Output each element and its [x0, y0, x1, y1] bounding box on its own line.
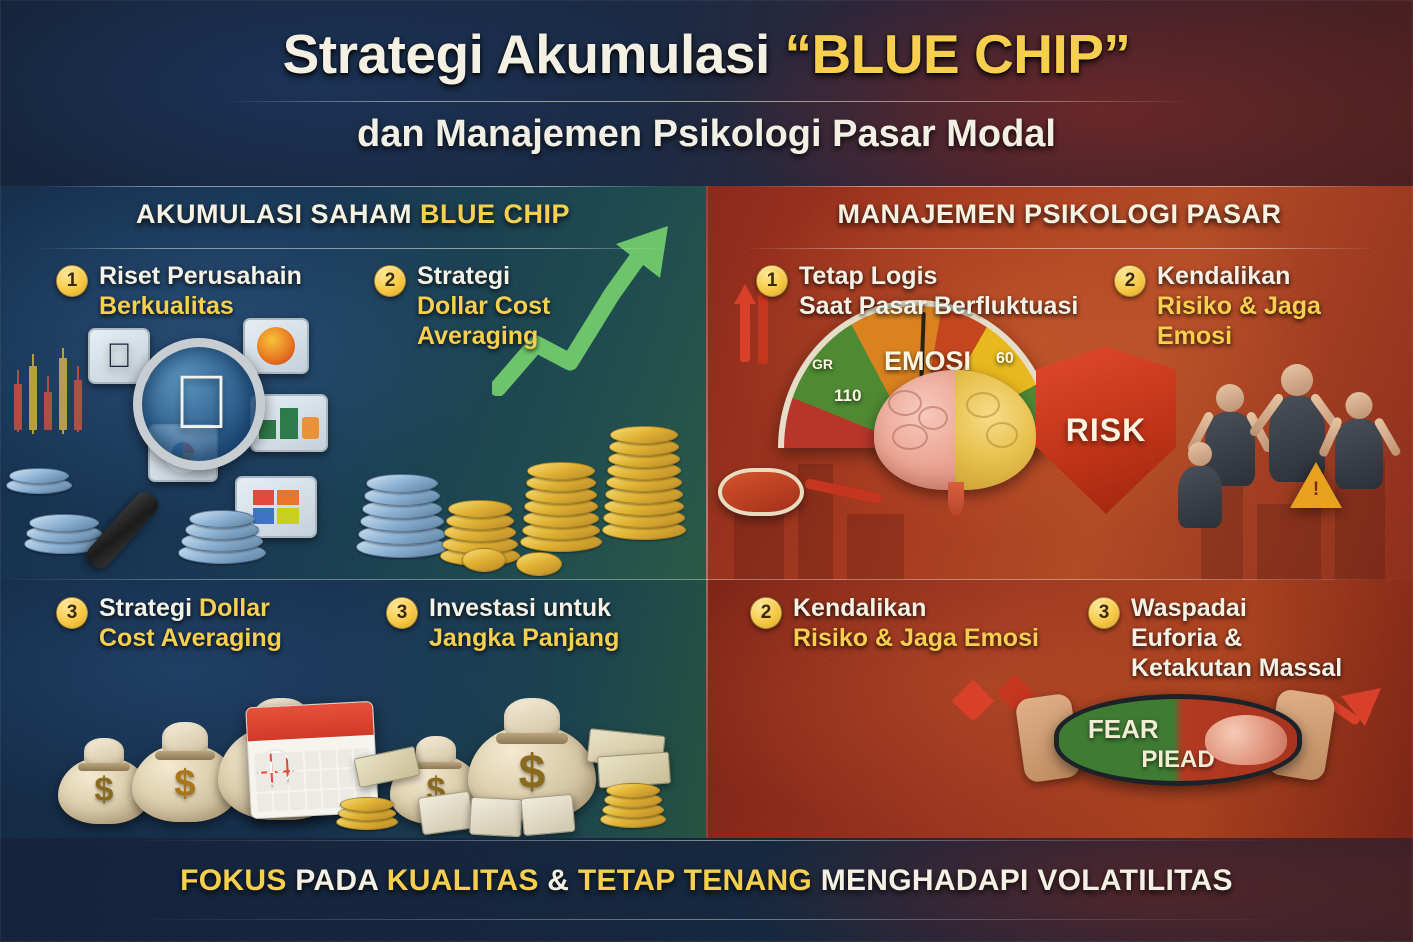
item-line: Dollar Cost [417, 292, 550, 322]
footer-segment: TETAP TENANG [578, 864, 821, 897]
section-title-left: AKUMULASI SAHAM BLUE CHIP [0, 199, 706, 230]
list-item-right-4[interactable]: 3 Waspadai Euforia & Ketakutan Massal [1088, 594, 1342, 683]
item-text: Investasi untuk Jangka Panjang [429, 594, 619, 654]
loose-coin-2 [516, 552, 562, 576]
gauge-tick-label: 110 [834, 386, 861, 406]
quadrant-psychology-top: EMOSI GR 110 60 RISK [706, 186, 1413, 580]
list-item-left-2[interactable]: 2 Strategi Dollar Cost Averaging [374, 262, 550, 351]
quadrant-accumulation-bottom: $ $ $ 10 [0, 580, 706, 838]
item-line: Tetap Logis [799, 262, 1078, 292]
coin-stack-center [178, 494, 270, 564]
section-rule-bottom-right [742, 248, 1377, 249]
footer-rule-top [120, 840, 1293, 841]
item-line: Averaging [417, 322, 550, 352]
footer-segment: PADA [295, 864, 387, 897]
item-number-badge: 2 [750, 597, 782, 629]
item-line: Risiko & Jaga [1157, 292, 1321, 322]
footer-rule-bottom [120, 919, 1293, 920]
gauge-tick-label: 60 [996, 350, 1014, 368]
section-title-right: MANAJEMEN PSIKOLOGI PASAR [706, 199, 1413, 230]
horizontal-divider [0, 579, 1413, 580]
loose-coin-1 [462, 548, 506, 572]
item-text: Kendalikan Risiko & Jaga Emosi [1157, 262, 1321, 351]
brain-illustration [874, 370, 1036, 490]
item-line: Jangka Panjang [429, 624, 619, 654]
badge-brain-icon [1205, 715, 1287, 765]
fear-greed-badge: FEAR PIEAD [1054, 694, 1302, 786]
poster-header: Strategi Akumulasi “BLUE CHIP” dan Manaj… [0, 0, 1413, 186]
playing-card-3 [520, 794, 575, 836]
brain-stem [948, 482, 964, 516]
money-bag-symbol: $ [468, 745, 596, 800]
item-line: Waspadai [1131, 594, 1342, 624]
item-line: Berkualitas [99, 292, 302, 322]
item-line: Investasi untuk [429, 594, 619, 624]
title-divider [222, 101, 1192, 102]
item-line: Strategi [417, 262, 550, 292]
coin-stack-bottom-1 [336, 766, 402, 830]
title-highlight-part: “BLUE CHIP” [785, 23, 1131, 85]
item-text: Kendalikan Risiko & Jaga Emosi [793, 594, 1039, 654]
item-number-badge: 3 [386, 597, 418, 629]
item-text: Waspadai Euforia & Ketakutan Massal [1131, 594, 1342, 683]
apple-logo-magnified-icon:  [173, 365, 230, 441]
list-item-left-4[interactable]: 3 Investasi untuk Jangka Panjang [386, 594, 619, 654]
fear-label: FEAR [1069, 714, 1178, 745]
magnifier-lens:  [133, 338, 265, 470]
coin-stack-dca-3 [520, 402, 606, 552]
gauge-tick-label: GR [812, 356, 833, 372]
item-line: Kendalikan [1157, 262, 1321, 292]
section-rule-bottom-left [36, 248, 670, 249]
small-dial-decor [718, 468, 804, 516]
footer-segment: KUALITAS [387, 864, 547, 897]
footer-segment: MENGHADAPI VOLATILITAS [821, 864, 1233, 897]
list-item-left-1[interactable]: 1 Riset Perusahain Berkualitas [56, 262, 302, 322]
item-text: Tetap Logis Saat Pasar Berfluktuasi [799, 262, 1078, 322]
section-title-left-highlight: BLUE CHIP [420, 199, 570, 229]
page-title: Strategi Akumulasi “BLUE CHIP” [0, 22, 1413, 86]
footer-tagline: FOKUS PADA KUALITAS & TETAP TENANG MENGH… [0, 864, 1413, 898]
section-rule-top-right [742, 186, 1377, 187]
coin-stack-dca-1 [356, 440, 452, 558]
crowd-person-4 [1172, 442, 1228, 538]
warning-symbol: ! [1303, 479, 1329, 501]
section-rule-top-left [36, 186, 670, 187]
list-item-left-3[interactable]: 3 Strategi Dollar Cost Averaging [56, 594, 282, 654]
quadrant-accumulation-top:  [0, 186, 706, 580]
coin-stack-silver-left2 [6, 440, 76, 494]
item-line: Strategi Dollar [99, 594, 282, 624]
coin-stack-bottom-2 [600, 752, 670, 828]
list-item-right-2[interactable]: 2 Kendalikan Risiko & Jaga Emosi [1114, 262, 1321, 351]
list-item-right-3[interactable]: 2 Kendalikan Risiko & Jaga Emosi [750, 594, 1039, 654]
red-bar-decor-1 [740, 298, 750, 362]
item-number-badge: 2 [374, 265, 406, 297]
item-number-badge: 3 [1088, 597, 1120, 629]
item-number-badge: 1 [756, 265, 788, 297]
item-line: Cost Averaging [99, 624, 282, 654]
footer-segment: & [547, 864, 578, 897]
poster-footer: FOKUS PADA KUALITAS & TETAP TENANG MENGH… [0, 838, 1413, 942]
infographic-poster: Strategi Akumulasi “BLUE CHIP” dan Manaj… [0, 0, 1413, 942]
item-text: Riset Perusahain Berkualitas [99, 262, 302, 322]
shield-label: RISK [1066, 412, 1146, 449]
item-line: Emosi [1157, 322, 1321, 352]
title-plain-part: Strategi Akumulasi [283, 23, 785, 85]
item-line: Kendalikan [793, 594, 1039, 624]
page-subtitle: dan Manajemen Psikologi Pasar Modal [0, 113, 1413, 156]
item-line: Ketakutan Massal [1131, 654, 1342, 684]
warning-triangle-icon: ! [1290, 462, 1342, 508]
item-line: Risiko & Jaga Emosi [793, 624, 1039, 654]
item-text: Strategi Dollar Cost Averaging [99, 594, 282, 654]
item-line-part: Dollar [199, 594, 270, 622]
item-line-part: Strategi [99, 594, 199, 622]
item-number-badge: 1 [56, 265, 88, 297]
section-title-left-plain: AKUMULASI SAHAM [136, 199, 420, 229]
section-header-right: MANAJEMEN PSIKOLOGI PASAR [706, 186, 1413, 254]
footer-segment: FOKUS [180, 864, 295, 897]
section-header-left: AKUMULASI SAHAM BLUE CHIP [0, 186, 706, 254]
apple-icon:  [106, 339, 132, 373]
playing-card-2 [469, 797, 523, 838]
item-line: Euforia & [1131, 624, 1342, 654]
item-text: Strategi Dollar Cost Averaging [417, 262, 550, 351]
red-arrow-decor [734, 284, 756, 304]
vertical-divider [706, 186, 708, 838]
list-item-right-1[interactable]: 1 Tetap Logis Saat Pasar Berfluktuasi [756, 262, 1078, 322]
coin-stack-dca-4 [602, 354, 690, 540]
item-number-badge: 2 [1114, 265, 1146, 297]
item-line: Riset Perusahain [99, 262, 302, 292]
item-number-badge: 3 [56, 597, 88, 629]
calendar-header [246, 702, 374, 742]
playing-card-1 [418, 791, 475, 836]
item-line: Saat Pasar Berfluktuasi [799, 292, 1078, 322]
quadrant-psychology-bottom: FEAR PIEAD 2 Kendalikan Risiko & Jaga Em… [706, 580, 1413, 838]
